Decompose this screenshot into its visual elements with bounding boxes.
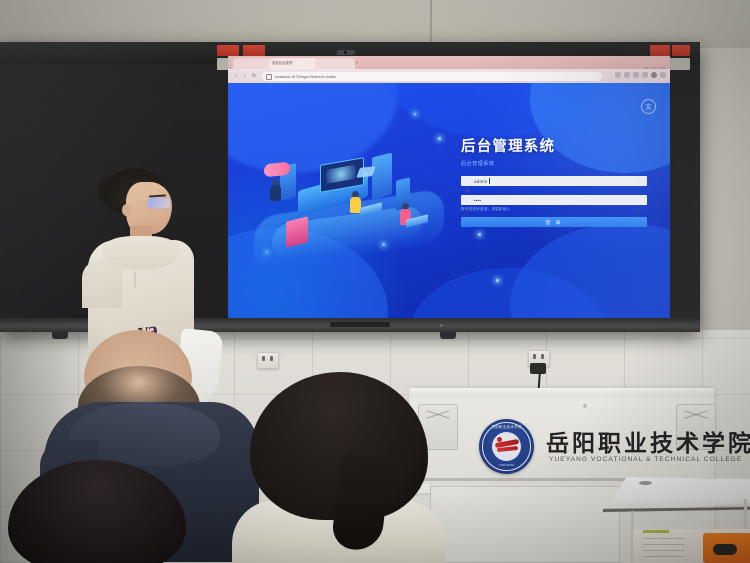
equipment-label — [643, 530, 669, 533]
eye-icon[interactable] — [637, 198, 643, 202]
login-page: 文 — [228, 83, 670, 318]
presenter-glasses — [148, 198, 170, 208]
college-name-cn: 岳阳职业技术学院 — [546, 424, 750, 458]
trademark-symbol: ® — [583, 404, 587, 410]
bg-blob — [408, 268, 608, 318]
emblem-top-text: 岳阳职业技术学院 — [479, 425, 534, 430]
profile-icon[interactable] — [651, 72, 657, 78]
illustration-tower — [372, 153, 392, 200]
display-power-led — [440, 324, 443, 327]
user-icon — [465, 179, 470, 184]
password-field[interactable]: •••• — [461, 195, 647, 205]
browser-tab-3[interactable] — [315, 58, 355, 69]
menu-icon[interactable] — [660, 72, 666, 78]
bg-blob — [510, 223, 670, 318]
display-speaker-grille — [330, 322, 390, 327]
new-tab-button[interactable]: + — [354, 60, 360, 66]
audience-member-long-hair — [240, 372, 440, 563]
forward-icon[interactable]: › — [242, 73, 248, 79]
lectern-top-edge — [409, 388, 714, 397]
os-menu-red-bar-left-1[interactable] — [217, 45, 239, 56]
display-camera-icon — [337, 50, 355, 55]
browser-toolbar: ‹ › ↻ localhost:1573/login?redirect=/ind… — [228, 69, 670, 83]
username-field[interactable]: admin — [461, 176, 647, 186]
login-subtitle: 后台管理系统 — [461, 160, 647, 167]
language-toggle-button[interactable]: 文 — [641, 99, 656, 114]
side-desk — [603, 477, 750, 563]
reload-icon[interactable]: ↻ — [251, 73, 257, 79]
bookmark-star-icon[interactable] — [633, 72, 639, 78]
bg-sparkle — [438, 137, 441, 140]
bg-sparkle — [414, 113, 416, 115]
emblem-swoosh — [497, 446, 518, 452]
orange-equipment-box — [703, 533, 750, 563]
lectern-lower-panel — [430, 486, 620, 563]
login-submit-button[interactable]: 登 录 — [461, 217, 647, 227]
audience-hair — [8, 460, 186, 563]
desk-cable-grommet — [639, 481, 652, 485]
presenter-ear — [122, 204, 131, 216]
password-value: •••• — [474, 198, 481, 203]
wall-upper — [0, 0, 750, 48]
browser-tab-1[interactable] — [233, 58, 273, 69]
browser-toolbar-icons[interactable] — [615, 72, 666, 78]
equipment-vents — [643, 535, 685, 557]
window-controls[interactable] — [641, 59, 667, 66]
illustration-pink-box — [286, 216, 308, 247]
browser-tab-strip: 若依后台管理 + — [228, 56, 670, 69]
browser-tab-2[interactable]: 若依后台管理 — [269, 58, 319, 69]
address-bar[interactable]: localhost:1573/login?redirect=/index — [262, 72, 602, 81]
back-icon[interactable]: ‹ — [233, 73, 239, 79]
wall-seam — [430, 0, 432, 48]
download-icon[interactable] — [642, 72, 648, 78]
bg-sparkle — [496, 279, 499, 282]
os-menu-red-bar-left-2[interactable] — [243, 45, 265, 56]
emblem-inner — [492, 432, 521, 461]
lock-icon — [465, 198, 470, 203]
text-caret — [489, 178, 490, 184]
extensions-icon[interactable] — [615, 72, 621, 78]
college-name-en: YUEYANG VOCATIONAL & TECHNICAL COLLEGE — [549, 456, 742, 463]
presenter-shoulder — [82, 260, 122, 308]
display-mount-foot — [440, 332, 456, 339]
os-menu-red-bar-right-1[interactable] — [650, 45, 670, 56]
browser-window: 若依后台管理 + ‹ › ↻ localhost:1573/login?redi… — [228, 56, 670, 318]
presenter-hood-string — [134, 272, 136, 288]
college-emblem: 岳阳职业技术学院 YUEYANG — [479, 419, 534, 474]
translate-icon[interactable] — [624, 72, 630, 78]
login-hint: 账号或密码错误，请重新输入 — [461, 207, 647, 212]
os-menu-red-bar-right-2[interactable] — [672, 45, 690, 56]
address-bar-url: localhost:1573/login?redirect=/index — [275, 75, 336, 79]
bg-sparkle — [478, 233, 481, 236]
login-title: 后台管理系统 — [461, 135, 647, 156]
bg-blob — [378, 83, 608, 137]
login-illustration — [246, 145, 456, 265]
audience-member-front — [8, 460, 188, 563]
emblem-bottom-text: YUEYANG — [479, 463, 534, 467]
username-value: admin — [474, 179, 488, 184]
classroom-scene: 若依后台管理 + ‹ › ↻ localhost:1573/login?redi… — [0, 0, 750, 563]
login-form: 后台管理系统 后台管理系统 admin •••• — [461, 135, 647, 227]
illustration-person-body — [270, 185, 281, 201]
lock-icon — [266, 74, 272, 80]
